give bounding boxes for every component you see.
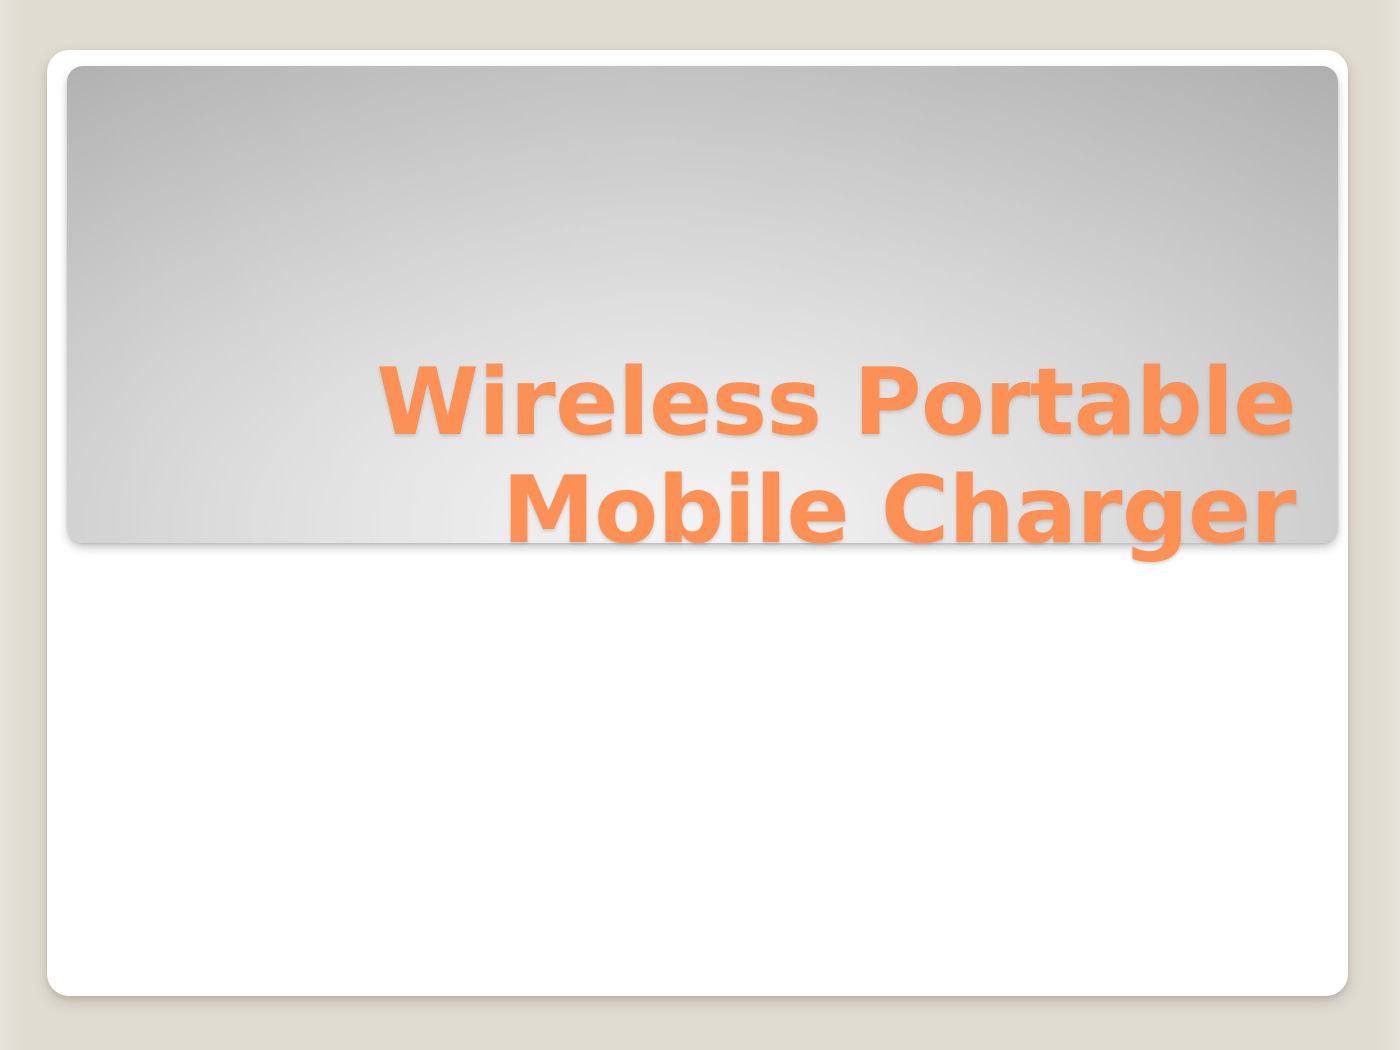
content-placeholder xyxy=(67,561,1338,976)
slide-title: Wireless Portable Mobile Charger xyxy=(207,348,1296,564)
title-placeholder-band: Wireless Portable Mobile Charger xyxy=(67,66,1338,543)
slide: Wireless Portable Mobile Charger xyxy=(47,50,1348,996)
presentation-canvas: Wireless Portable Mobile Charger xyxy=(0,0,1400,1050)
